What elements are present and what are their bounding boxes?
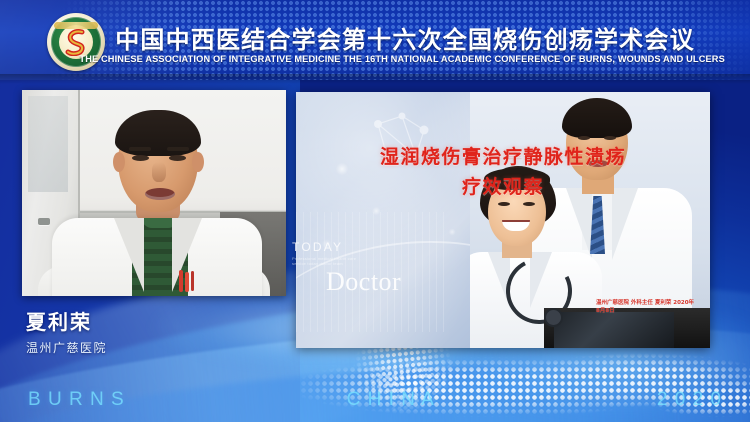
speaker-brow-right	[167, 147, 189, 151]
coat-lapel-left	[114, 218, 144, 292]
speaker-ear-left	[113, 152, 125, 172]
slide-credit-text: 温州广慈医院 外科主任 夏利荣 2020年8月8日	[596, 300, 696, 315]
pen-red-2	[185, 272, 189, 292]
door-lock-icon	[38, 218, 50, 225]
male-doctor-eye-right	[604, 136, 616, 140]
conference-title: 中国中西医结合学会第十六次全国烧伤创疡学术会议	[0, 20, 750, 55]
header-drop-shadow	[0, 74, 750, 84]
speaker-brow-left	[129, 147, 151, 151]
speaker-organization: 温州广慈医院	[26, 339, 107, 356]
speaker-mouth	[145, 188, 175, 200]
xray-film-icon	[554, 312, 674, 348]
door-glass-panel	[28, 96, 68, 192]
speaker-ear-right	[192, 152, 204, 172]
conference-subtitle: THE CHINESE ASSOCIATION OF INTEGRATIVE M…	[11, 54, 739, 65]
slide-title-line-2: 疗效观察	[296, 172, 710, 199]
coat-pocket-pens	[179, 270, 201, 296]
slide-today-subtext: Professional medical health care service…	[292, 256, 366, 266]
speaker-eye-right	[169, 155, 186, 161]
speaker-name: 夏利荣	[26, 306, 92, 335]
slide-today-label: TODAY	[292, 240, 343, 254]
pen-red-1	[179, 270, 183, 292]
stethoscope-chestpiece-icon	[544, 308, 563, 327]
speaker-eye-left	[132, 155, 149, 161]
speaker-video-panel[interactable]	[22, 90, 286, 296]
conference-header-banner: 中国中西医结合学会第十六次全国烧伤创疡学术会议 THE CHINESE ASSO…	[0, 0, 750, 80]
speaker-nose	[152, 162, 166, 182]
female-doctor-eye-right	[523, 202, 535, 206]
slide-title-line-1: 湿润烧伤膏治疗静脉性溃疡	[296, 142, 710, 169]
female-doctor-eye-left	[498, 202, 510, 206]
slide-doctor-label: Doctor	[326, 267, 401, 297]
male-doctor-eye-left	[578, 136, 590, 140]
pen-red-3	[191, 271, 194, 291]
broadcast-screen: 中国中西医结合学会第十六次全国烧伤创疡学术会议 THE CHINESE ASSO…	[0, 0, 750, 422]
